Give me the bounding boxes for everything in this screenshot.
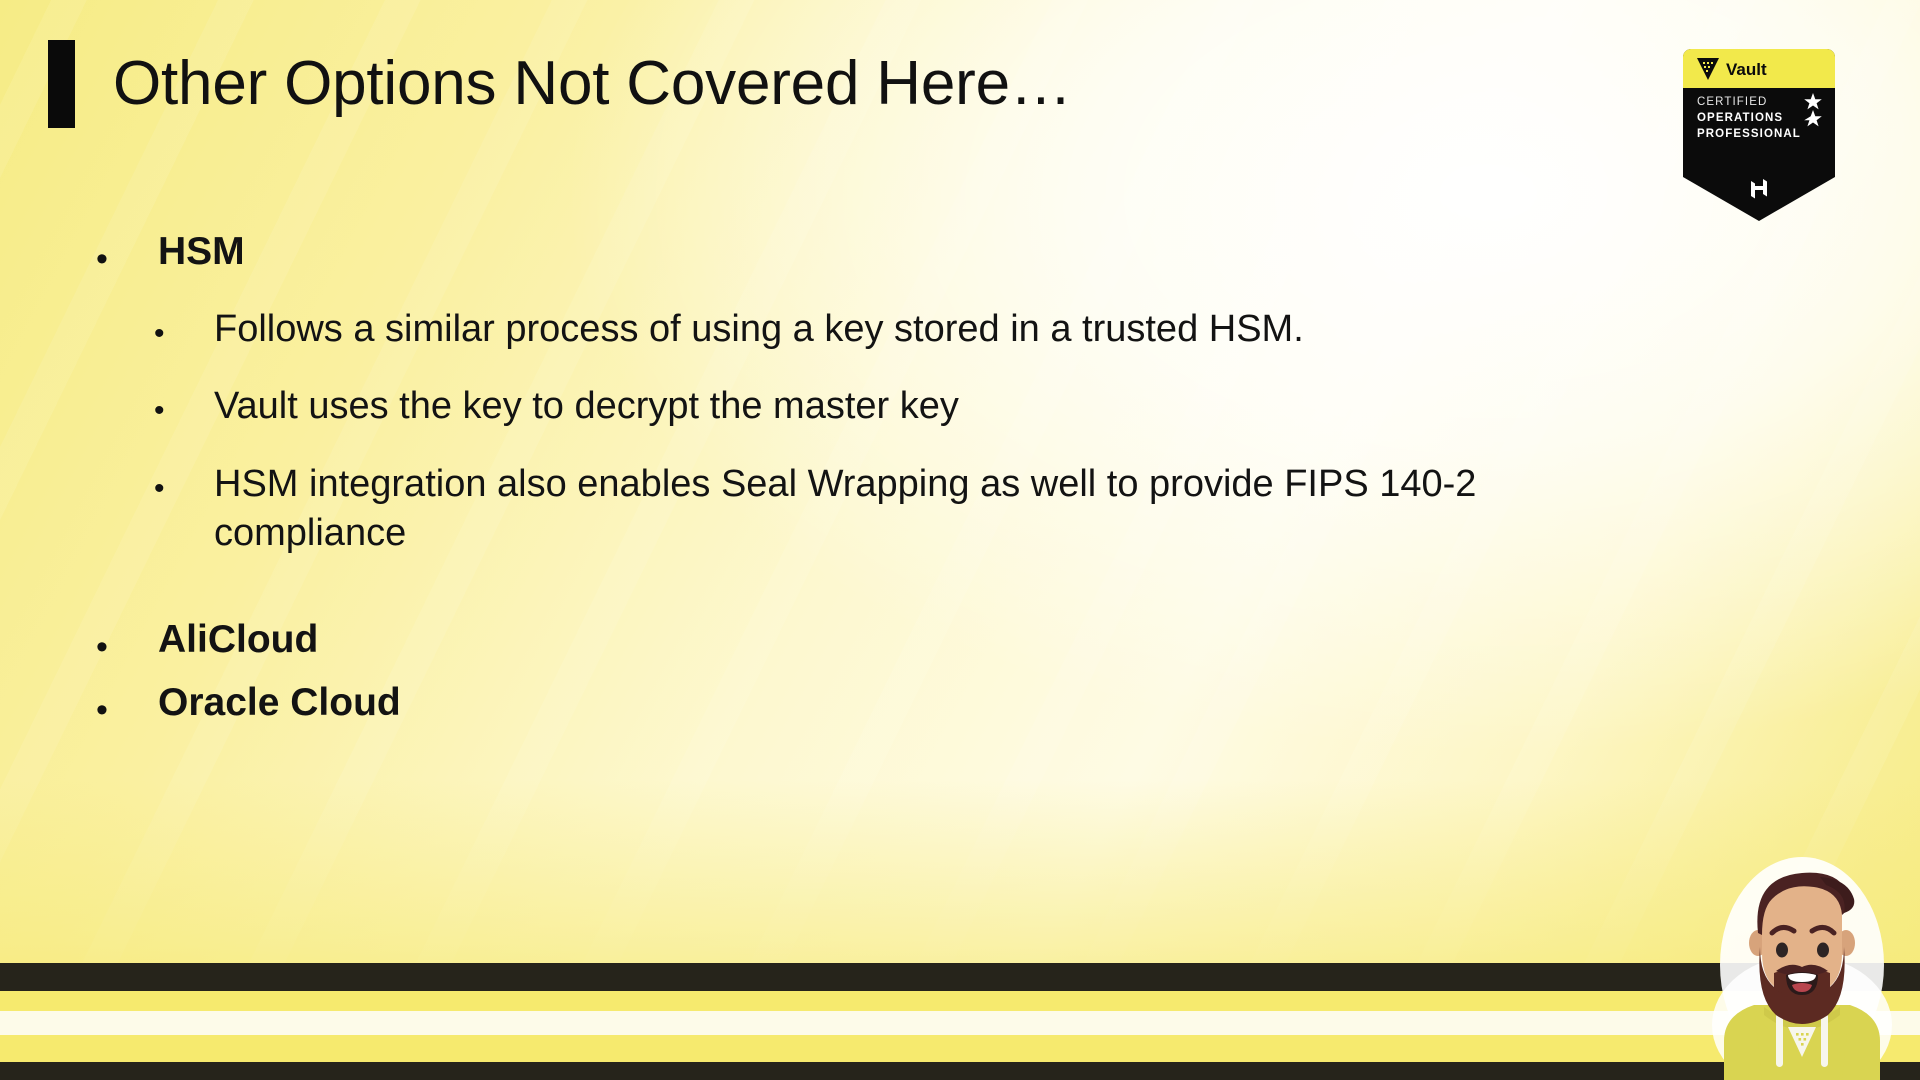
avatar-drawstring-left [1776, 1013, 1783, 1067]
list-item-label: HSM [158, 228, 245, 277]
list-item: • HSM integration also enables Seal Wrap… [96, 460, 1696, 559]
spacer [96, 665, 1696, 679]
slide-canvas: Other Options Not Covered Here… • HSM • … [0, 0, 1920, 1080]
bullet-marker-icon: • [96, 679, 158, 727]
avatar-eye-left [1776, 943, 1788, 958]
badge-line-certified: CERTIFIED [1697, 96, 1767, 108]
spacer [96, 432, 1696, 460]
list-item-label: AliCloud [158, 616, 318, 665]
bullet-marker-icon: • [96, 460, 214, 504]
list-item: • Oracle Cloud [96, 679, 1696, 728]
list-item-label: HSM integration also enables Seal Wrappi… [214, 460, 1504, 559]
spacer [96, 354, 1696, 382]
bullet-marker-icon: • [96, 382, 214, 426]
vault-certification-badge: Vault CERTIFIED OPERATIONS PROFESSIONAL [1683, 49, 1835, 221]
footer-bar-yellow-bottom [0, 1035, 1920, 1062]
list-item: • Follows a similar process of using a k… [96, 305, 1696, 354]
bullet-marker-icon: • [96, 228, 158, 276]
avatar [1702, 855, 1902, 1080]
bullet-list: • HSM • Follows a similar process of usi… [96, 228, 1696, 728]
footer-bar-yellow-top [0, 991, 1920, 1011]
list-item: • Vault uses the key to decrypt the mast… [96, 382, 1696, 431]
footer-bar-dark-bottom [0, 1062, 1920, 1080]
list-item: • HSM [96, 228, 1696, 277]
list-item-label: Vault uses the key to decrypt the master… [214, 382, 959, 431]
spacer [96, 558, 1696, 616]
page-title: Other Options Not Covered Here… [113, 53, 1072, 115]
slide-title-row: Other Options Not Covered Here… [48, 40, 1072, 128]
list-item-label: Follows a similar process of using a key… [214, 305, 1304, 354]
bullet-marker-icon: • [96, 616, 158, 664]
bullet-marker-icon: • [96, 305, 214, 349]
footer-bar-dark-top [0, 963, 1920, 991]
title-accent-bar [48, 40, 75, 128]
list-item-label: Oracle Cloud [158, 679, 401, 728]
spacer [96, 277, 1696, 305]
list-item: • AliCloud [96, 616, 1696, 665]
badge-line-professional: PROFESSIONAL [1697, 128, 1801, 140]
footer-bar-cream [0, 1011, 1920, 1035]
badge-line-operations: OPERATIONS [1697, 112, 1783, 124]
badge-product-name: Vault [1726, 60, 1767, 79]
avatar-drawstring-right [1821, 1013, 1828, 1067]
avatar-eye-right [1817, 943, 1829, 958]
